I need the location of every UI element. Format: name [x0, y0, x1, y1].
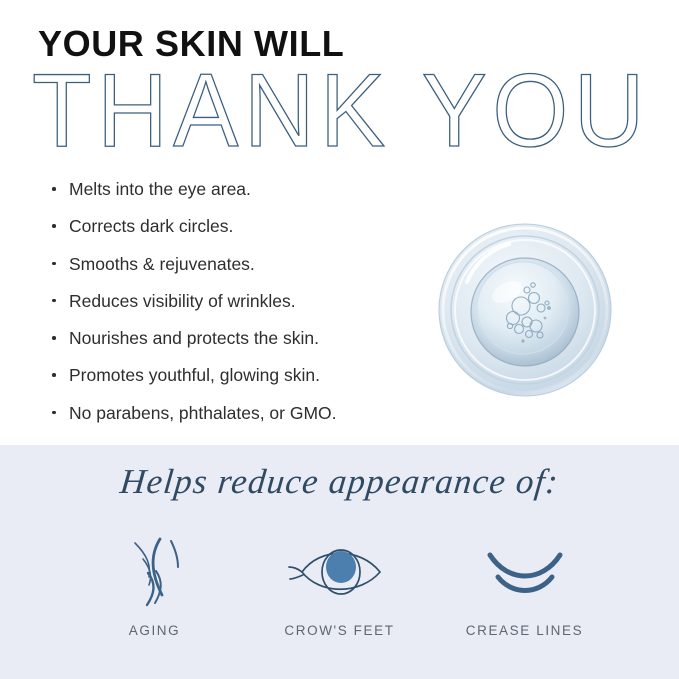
bullet-icon: [52, 187, 56, 191]
list-item: Smooths & rejuvenates.: [48, 253, 448, 276]
list-item-label: Reduces visibility of wrinkles.: [69, 291, 296, 311]
headline-primary: YOUR SKIN WILL: [38, 26, 344, 62]
double-arc-icon: [482, 533, 568, 611]
concern-label-crows-feet: CROW'S FEET: [284, 623, 394, 638]
bullet-icon: [52, 411, 56, 415]
list-item-label: Smooths & rejuvenates.: [69, 254, 255, 274]
svg-text:THANK YOU: THANK YOU: [32, 68, 650, 164]
concern-item-aging: AGING: [62, 533, 247, 638]
concern-label-aging: AGING: [129, 623, 181, 638]
benefits-list: Melts into the eye area. Corrects dark c…: [48, 178, 448, 439]
list-item-label: Melts into the eye area.: [69, 179, 251, 199]
list-item: Nourishes and protects the skin.: [48, 327, 448, 350]
bullet-icon: [52, 336, 56, 340]
eye-icon: [288, 533, 392, 611]
concern-item-crease-lines: CREASE LINES: [432, 533, 617, 638]
list-item: Corrects dark circles.: [48, 215, 448, 238]
list-item: No parabens, phthalates, or GMO.: [48, 402, 448, 425]
reduce-appearance-heading: Helps reduce appearance of:: [0, 461, 679, 503]
wavy-lines-icon: [118, 533, 192, 611]
bottom-panel: Helps reduce appearance of:: [0, 445, 679, 679]
top-panel: YOUR SKIN WILL THANK YOU Melts into the …: [0, 0, 679, 445]
bullet-icon: [52, 224, 56, 228]
headline-secondary: THANK YOU: [32, 68, 652, 164]
list-item: Melts into the eye area.: [48, 178, 448, 201]
product-jar-image: [437, 222, 613, 398]
concerns-icon-row: AGING: [62, 533, 617, 638]
bullet-icon: [52, 373, 56, 377]
list-item: Promotes youthful, glowing skin.: [48, 364, 448, 387]
bullet-icon: [52, 299, 56, 303]
list-item-label: Nourishes and protects the skin.: [69, 328, 319, 348]
marketing-infographic: YOUR SKIN WILL THANK YOU Melts into the …: [0, 0, 679, 679]
bullet-icon: [52, 262, 56, 266]
list-item-label: Corrects dark circles.: [69, 216, 233, 236]
list-item: Reduces visibility of wrinkles.: [48, 290, 448, 313]
concern-label-crease-lines: CREASE LINES: [466, 623, 583, 638]
list-item-label: Promotes youthful, glowing skin.: [69, 365, 320, 385]
list-item-label: No parabens, phthalates, or GMO.: [69, 403, 337, 423]
concern-item-crows-feet: CROW'S FEET: [247, 533, 432, 638]
